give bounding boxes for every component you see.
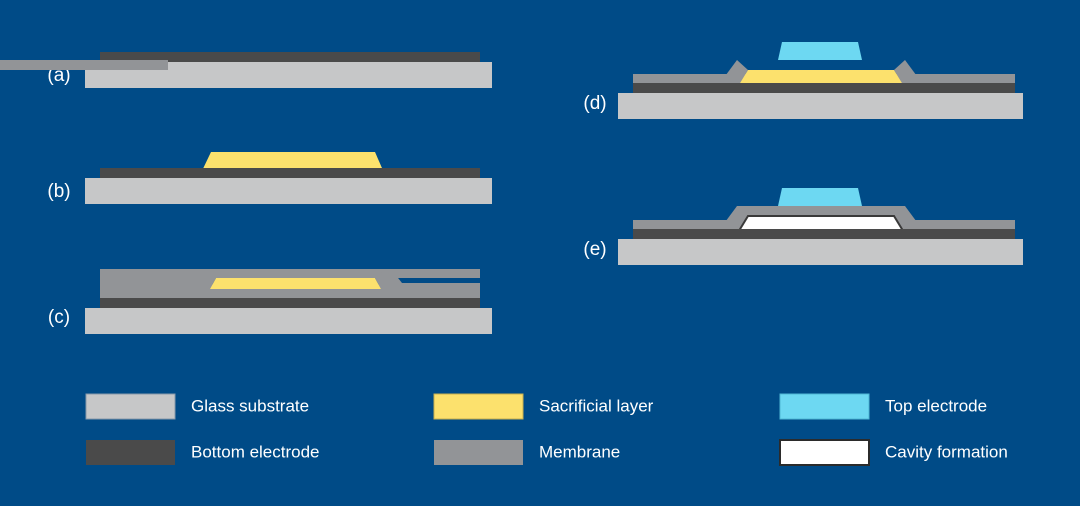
- legend-label-membrane: Membrane: [539, 442, 620, 461]
- legend-swatch-glass-substrate: [86, 394, 175, 419]
- panel-d-top-electrode: [778, 42, 862, 60]
- panel-b-glass-substrate: [85, 178, 492, 204]
- panel-e-glass-substrate: [618, 239, 1023, 265]
- legend-swatch-sacrificial-layer: [434, 394, 523, 419]
- legend-swatch-membrane: [434, 440, 523, 465]
- panel-b-label: (b): [47, 181, 70, 202]
- panel-c-label: (c): [48, 307, 70, 328]
- panel-e-bottom-electrode: [633, 229, 1015, 240]
- legend-swatch-cavity-formation: [780, 440, 869, 465]
- legend-swatch-bottom-electrode: [86, 440, 175, 465]
- legend-item-sacrificial-layer: Sacrificial layer: [434, 394, 654, 419]
- panel-e-membrane-top: [737, 206, 905, 216]
- panel-d-membrane-top: [0, 60, 168, 70]
- legend-swatch-top-electrode: [780, 394, 869, 419]
- legend-label-cavity-formation: Cavity formation: [885, 442, 1008, 461]
- panel-c-membrane-base-run: [100, 289, 480, 298]
- legend-label-top-electrode: Top electrode: [885, 396, 987, 415]
- legend-item-cavity-formation: Cavity formation: [780, 440, 1008, 465]
- panel-c-bottom-electrode: [100, 298, 480, 309]
- panel-c-membrane-top: [205, 269, 386, 278]
- legend-label-bottom-electrode: Bottom electrode: [191, 442, 320, 461]
- panel-d-glass-substrate: [618, 93, 1023, 119]
- legend-label-sacrificial-layer: Sacrificial layer: [539, 396, 654, 415]
- panel-e-label: (e): [583, 239, 606, 260]
- legend-item-glass-substrate: Glass substrate: [86, 394, 309, 419]
- panel-d-label: (d): [583, 93, 606, 114]
- panel-b-bottom-electrode: [100, 168, 480, 179]
- panel-d-bottom-electrode: [633, 83, 1015, 94]
- panel-c-glass-substrate: [85, 308, 492, 334]
- panel-e-top-electrode: [778, 188, 862, 206]
- process-flow-figure: (a) (b) (c) (d): [0, 0, 1080, 506]
- legend-item-bottom-electrode: Bottom electrode: [86, 440, 320, 465]
- panel-c-membrane-right-run: [386, 269, 480, 278]
- legend-label-glass-substrate: Glass substrate: [191, 396, 309, 415]
